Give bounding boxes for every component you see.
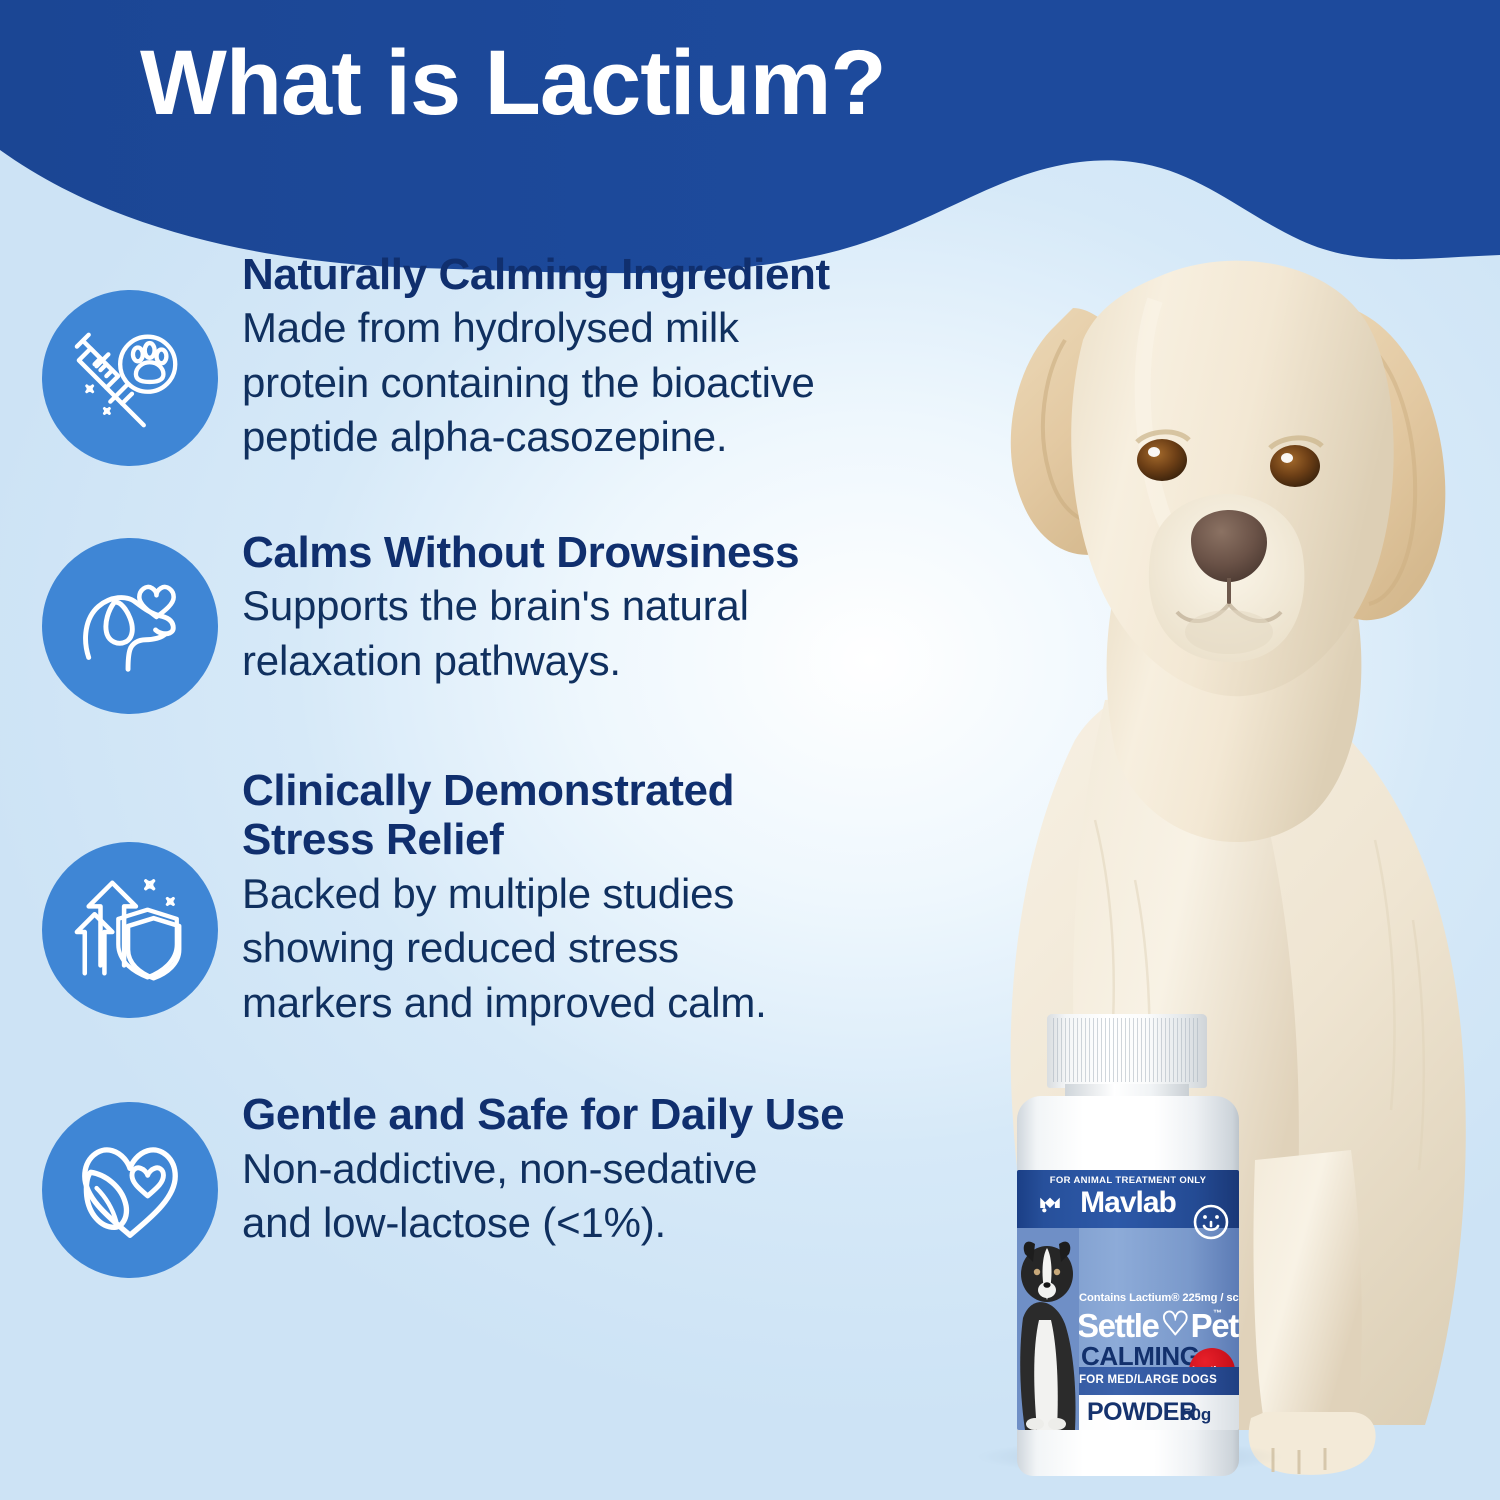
feature-item-naturally-calming: Naturally Calming Ingredient Made from h…: [40, 250, 1000, 466]
icon-circle: [42, 1102, 218, 1278]
product-label: FOR ANIMAL TREATMENT ONLY Mavlab Contain…: [1017, 1170, 1239, 1430]
feature-icon-wrapper: [40, 528, 220, 714]
heart-leaf-icon: [71, 1131, 189, 1249]
label-form: POWDER: [1087, 1398, 1197, 1427]
feature-item-gentle-and-safe: Gentle and Safe for Daily Use Non-addict…: [40, 1090, 1000, 1278]
syringe-paw-magnifier-icon: [71, 319, 189, 437]
feature-item-clinically-demonstrated: Clinically Demonstrated Stress Relief Ba…: [40, 766, 1000, 1030]
feature-body: Supports the brain's natural relaxation …: [242, 579, 799, 688]
dog-head-heart-icon: [71, 567, 189, 685]
feature-text: Calms Without Drowsiness Supports the br…: [220, 528, 809, 688]
feature-body: Backed by multiple studies showing reduc…: [242, 867, 767, 1031]
border-collie-photo: [1017, 1228, 1079, 1430]
feature-title: Calms Without Drowsiness: [242, 528, 799, 577]
feature-body: Non-addictive, non-sedative and low-lact…: [242, 1142, 844, 1251]
feature-title: Naturally Calming Ingredient: [242, 250, 830, 299]
feature-body: Made from hydrolysed milk protein contai…: [242, 301, 830, 465]
icon-circle: [42, 538, 218, 714]
feature-icon-wrapper: [40, 766, 220, 1018]
feature-list: Naturally Calming Ingredient Made from h…: [40, 250, 1000, 1278]
feature-text: Naturally Calming Ingredient Made from h…: [220, 250, 840, 465]
page-title: What is Lactium?: [140, 34, 886, 133]
bottle-cap: [1047, 1014, 1207, 1088]
infographic-page: What is Lactium?: [0, 0, 1500, 1500]
feature-icon-wrapper: [40, 1090, 220, 1278]
icon-circle: [42, 842, 218, 1018]
arrows-shield-icon: [71, 871, 189, 989]
label-trademark: ™: [1213, 1308, 1222, 1318]
feature-icon-wrapper: [40, 250, 220, 466]
label-animal-use: FOR ANIMAL TREATMENT ONLY: [1017, 1175, 1239, 1186]
product-bottle: FOR ANIMAL TREATMENT ONLY Mavlab Contain…: [985, 1010, 1270, 1480]
icon-circle: [42, 290, 218, 466]
feature-text: Clinically Demonstrated Stress Relief Ba…: [220, 766, 777, 1030]
label-weight: 50g: [1182, 1405, 1211, 1425]
heart-icon: ♡: [1158, 1304, 1190, 1343]
pet-smiley-icon: [1191, 1202, 1231, 1242]
feature-title: Clinically Demonstrated Stress Relief: [242, 766, 767, 865]
label-dog-size: FOR MED/LARGE DOGS: [1079, 1374, 1217, 1386]
feature-title: Gentle and Safe for Daily Use: [242, 1090, 844, 1139]
feature-item-calms-without-drowsiness: Calms Without Drowsiness Supports the br…: [40, 528, 1000, 714]
label-contains: Contains Lactium® 225mg / scoop.: [1079, 1292, 1239, 1304]
label-product-name-1: Settle: [1077, 1307, 1158, 1344]
feature-text: Gentle and Safe for Daily Use Non-addict…: [220, 1090, 854, 1250]
mavlab-logo-icon: [1037, 1190, 1063, 1216]
